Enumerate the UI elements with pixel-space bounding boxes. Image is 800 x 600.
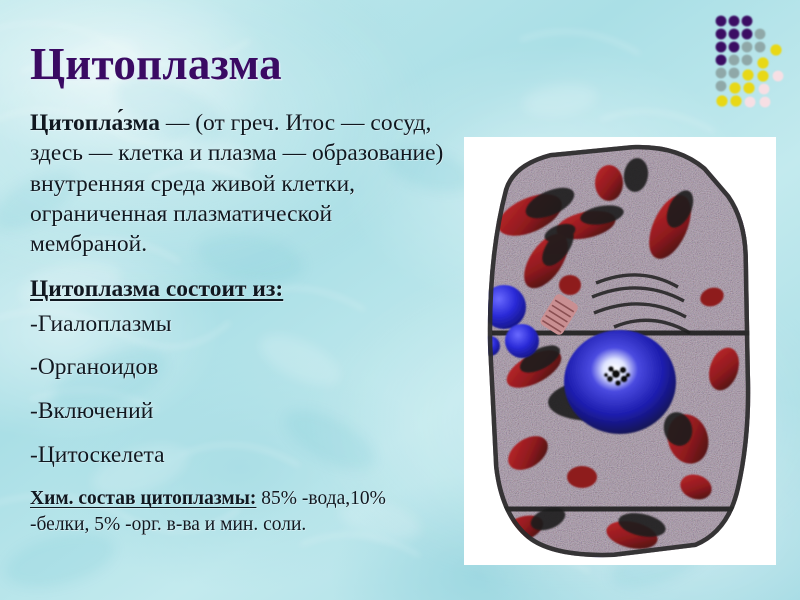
- cell-diagram-panel: [464, 137, 776, 565]
- text-content-column: Цитопла́зма — (от греч. Итос — сосуд, зд…: [30, 108, 450, 538]
- list-item: -Включений: [30, 399, 450, 424]
- dot-grid-decoration: [712, 12, 794, 117]
- chemical-composition-paragraph: Хим. состав цитоплазмы: 85% -вода,10% -б…: [30, 486, 450, 538]
- definition-term: Цитопла́зма: [30, 110, 160, 136]
- slide-title: Цитоплазма: [30, 42, 282, 87]
- list-item: -Цитоскелета: [30, 443, 450, 468]
- composition-heading: Цитоплазма состоит из:: [30, 276, 450, 303]
- composition-list: -Гиалоплазмы -Органоидов -Включений -Цит…: [30, 312, 450, 468]
- chemical-composition-label: Хим. состав цитоплазмы:: [30, 488, 256, 509]
- list-item: -Гиалоплазмы: [30, 312, 450, 337]
- definition-paragraph: Цитопла́зма — (от греч. Итос — сосуд, зд…: [30, 108, 450, 260]
- list-item: -Органоидов: [30, 355, 450, 380]
- slide-canvas: Цитоплазма: [0, 0, 800, 600]
